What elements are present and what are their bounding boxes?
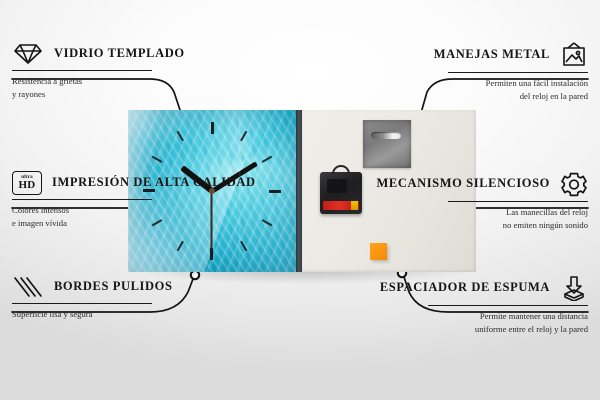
- metal-hanger-plate: [363, 120, 411, 168]
- foam-spacer: [370, 243, 387, 260]
- feature-desc: Superficie lisa y segura: [12, 308, 152, 320]
- wall-frame-hanger-icon: [560, 42, 588, 68]
- foam-spacer-arrow-icon: [560, 275, 588, 301]
- feature-desc: Resistencia a grietas y rayones: [12, 75, 152, 99]
- feature-bordes-pulidos: BORDES PULIDOS Superficie lisa y segura: [12, 275, 152, 321]
- feature-rule: [428, 305, 588, 306]
- feature-rule: [12, 199, 152, 200]
- hanger-keyhole-slot: [371, 132, 401, 139]
- ultra-hd-main-text: HD: [18, 180, 35, 191]
- feature-espaciador-espuma: ESPACIADOR DE ESPUMA Permite mantener un…: [428, 275, 588, 335]
- mechanism-battery-label: [323, 201, 359, 210]
- feature-desc: Colores intensos e imagen vívida: [12, 204, 152, 228]
- feature-manejas-metal: MANEJAS METAL Permiten una fácil instala…: [448, 42, 588, 102]
- feature-title: MECANISMO SILENCIOSO: [377, 176, 551, 191]
- ultra-hd-icon: ultra HD: [12, 171, 42, 195]
- infographic-canvas: VIDRIO TEMPLADO Resistencia a grietas y …: [0, 0, 600, 400]
- feature-rule: [12, 303, 152, 304]
- gear-icon: [560, 171, 588, 197]
- mechanism-hanger-loop: [332, 165, 350, 174]
- feature-desc: Permiten una fácil instalación del reloj…: [448, 77, 588, 101]
- feature-title: MANEJAS METAL: [434, 47, 550, 62]
- clock-face: [128, 110, 296, 272]
- feature-rule: [12, 70, 152, 71]
- feature-mecanismo-silencioso: MECANISMO SILENCIOSO Las manecillas del …: [448, 171, 588, 231]
- feature-title: IMPRESIÓN DE ALTA CALIDAD: [52, 175, 256, 190]
- clock-mechanism: [320, 172, 362, 214]
- clock-second-hand: [211, 191, 213, 249]
- feature-title: BORDES PULIDOS: [54, 279, 173, 294]
- diamond-icon: [12, 42, 44, 66]
- mechanism-housing-detail: [327, 179, 347, 193]
- polished-edges-icon: [12, 275, 44, 299]
- feature-vidrio-templado: VIDRIO TEMPLADO Resistencia a grietas y …: [12, 42, 152, 100]
- feature-desc: Las manecillas del reloj no emiten ningú…: [448, 206, 588, 230]
- feature-impresion-alta-calidad: ultra HD IMPRESIÓN DE ALTA CALIDAD Color…: [12, 171, 152, 229]
- feature-rule: [448, 201, 588, 202]
- feature-title: VIDRIO TEMPLADO: [54, 46, 185, 61]
- feature-title: ESPACIADOR DE ESPUMA: [380, 280, 550, 295]
- clock-ticks: [128, 110, 296, 272]
- feature-rule: [448, 72, 588, 73]
- feature-desc: Permite mantener una distancia uniforme …: [428, 310, 588, 334]
